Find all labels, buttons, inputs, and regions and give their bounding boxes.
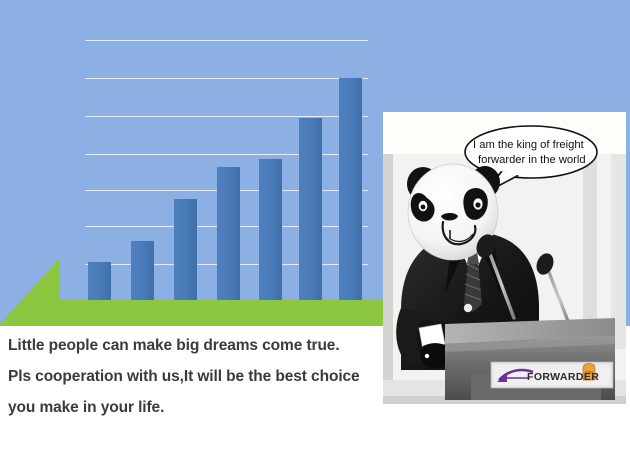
- svg-text:forwarder in the world: forwarder in the world: [478, 154, 586, 166]
- green-ground-ramp: [0, 250, 390, 326]
- gridline-0: [85, 40, 368, 41]
- gridline-2: [85, 116, 368, 117]
- gridline-3: [85, 154, 368, 155]
- podium: FORWARDER: [445, 318, 615, 400]
- caption-line-3: you make in your life.: [8, 398, 372, 418]
- svg-text:I am the king of freight: I am the king of freight: [473, 139, 585, 151]
- caption-line-1: Little people can make big dreams come t…: [8, 336, 372, 356]
- caption-line-2: Pls cooperation with us,It will be the b…: [8, 367, 372, 387]
- gridline-1: [85, 78, 368, 79]
- promo-banner: I am the king of freight forwarder in th…: [0, 0, 630, 475]
- podium-sign: FORWARDER: [491, 362, 613, 388]
- svg-text:FORWARDER: FORWARDER: [527, 371, 599, 383]
- sky-background-right: [373, 0, 630, 116]
- caption-block: Little people can make big dreams come t…: [0, 330, 380, 429]
- panda-speaker-photo: I am the king of freight forwarder in th…: [383, 112, 626, 404]
